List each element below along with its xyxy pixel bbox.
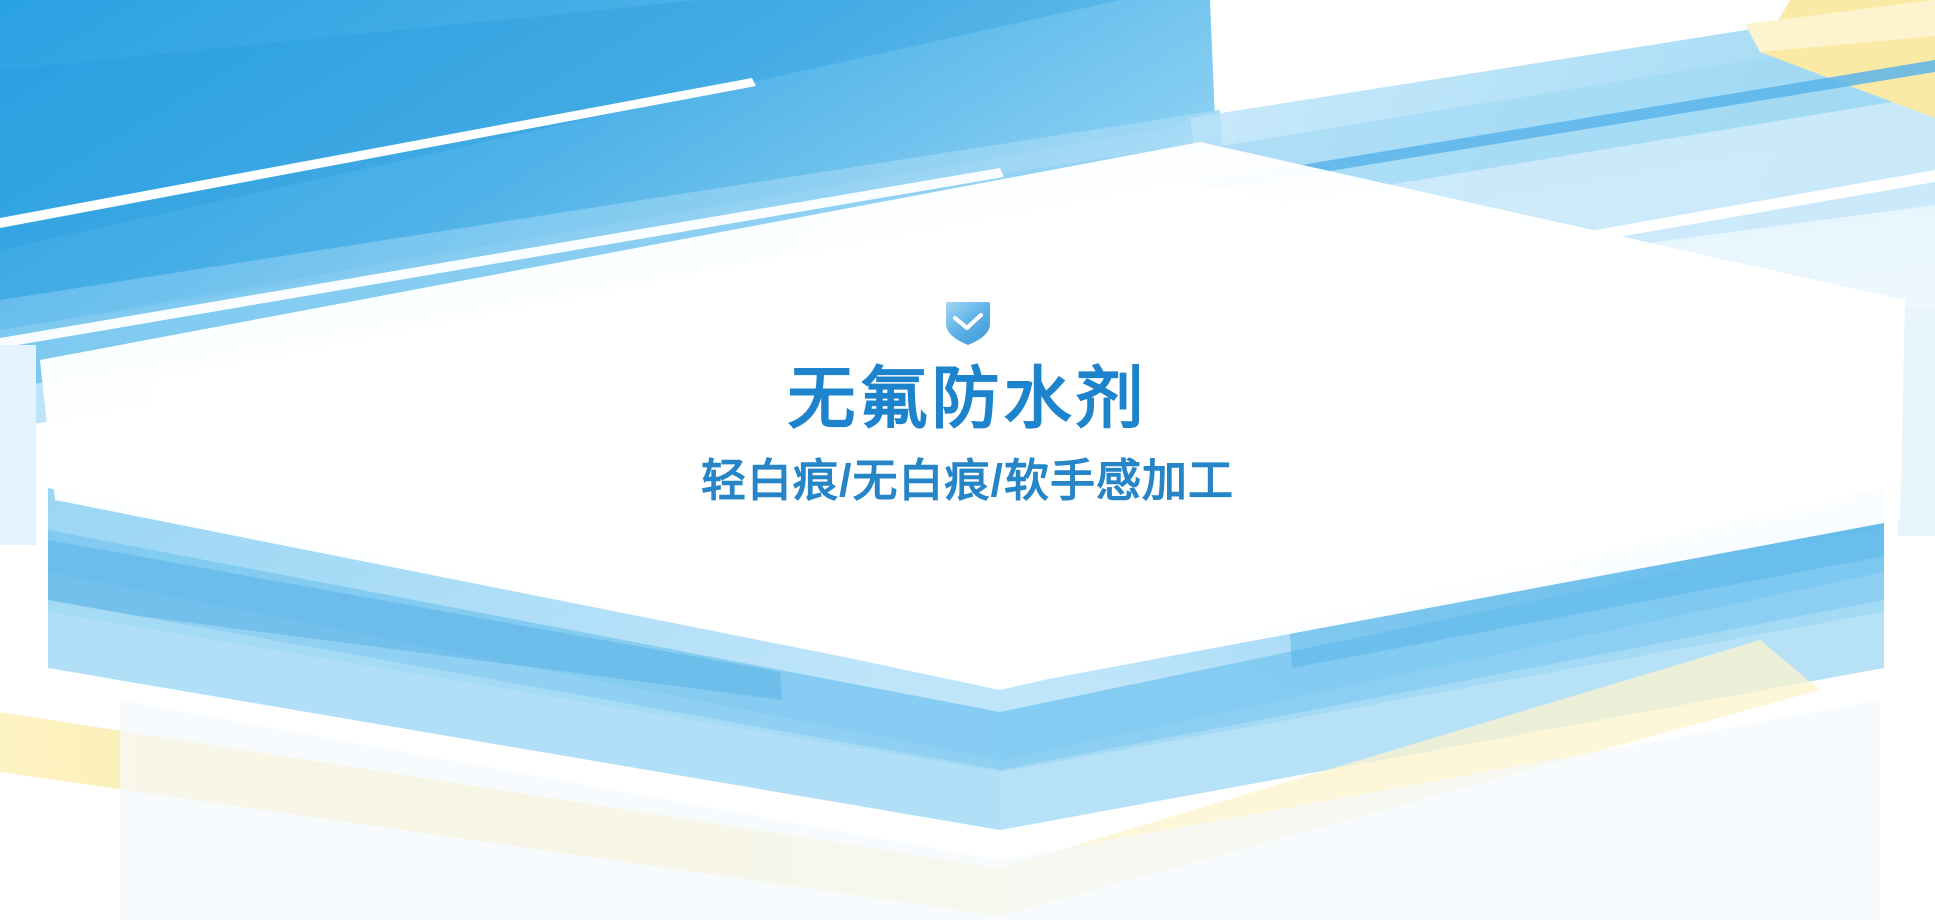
page-title: 无氟防水剂: [787, 364, 1147, 435]
shield-check-icon: [942, 300, 994, 346]
page-subtitle: 轻白痕/无白痕/软手感加工: [701, 455, 1234, 507]
product-banner: 无氟防水剂 轻白痕/无白痕/软手感加工: [0, 0, 1935, 920]
